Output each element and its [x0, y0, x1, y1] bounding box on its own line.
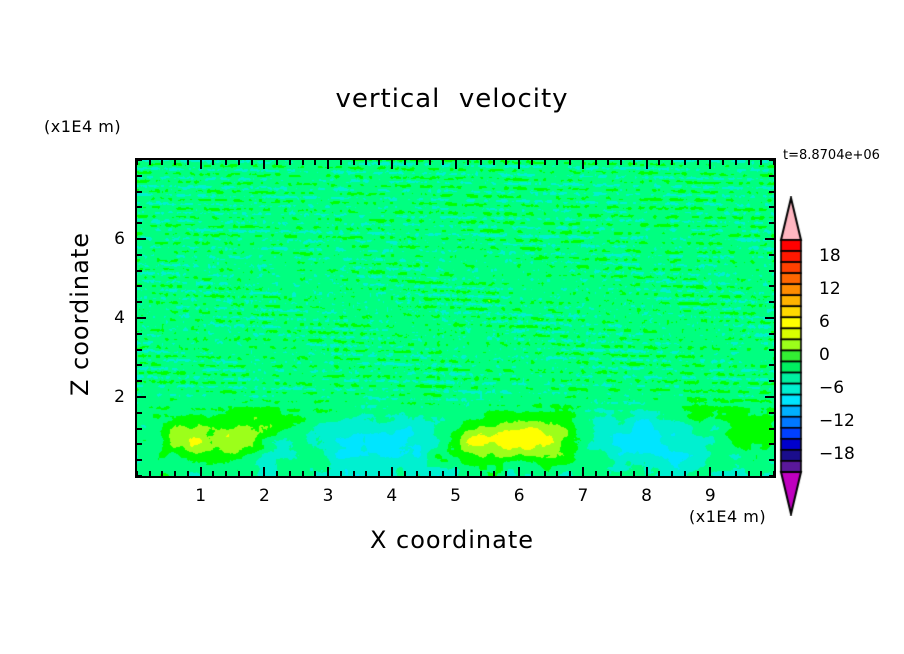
x-tick	[633, 471, 635, 476]
x-tick	[505, 471, 507, 476]
colorbar: 181260−6−12−18	[779, 196, 899, 516]
contour-field-canvas	[137, 160, 774, 476]
x-tick-top	[684, 160, 686, 165]
x-tick-top	[505, 160, 507, 165]
x-tick	[582, 467, 584, 476]
x-tick	[455, 467, 457, 476]
x-tick-top	[748, 160, 750, 165]
x-tick-top	[620, 160, 622, 165]
x-tick-top	[327, 160, 329, 169]
colorbar-tick-label: −18	[819, 446, 855, 463]
x-tick-top	[709, 160, 711, 169]
x-tick-top	[161, 160, 163, 165]
x-tick	[251, 471, 253, 476]
x-tick	[607, 471, 609, 476]
chart-title: vertical velocity	[0, 84, 904, 114]
y-axis-units-label: (x1E4 m)	[44, 117, 121, 136]
colorbar-tick-label: 18	[819, 248, 841, 265]
x-tick	[212, 471, 214, 476]
y-tick-right	[769, 349, 774, 351]
y-tick-right	[769, 428, 774, 430]
y-tick	[137, 443, 142, 445]
x-tick-top	[289, 160, 291, 165]
x-tick-top	[658, 160, 660, 165]
x-tick-top	[238, 160, 240, 165]
x-tick	[684, 471, 686, 476]
x-tick	[314, 471, 316, 476]
y-tick	[137, 206, 142, 208]
x-tick-top	[455, 160, 457, 169]
y-tick	[137, 428, 142, 430]
x-tick-label: 7	[568, 486, 598, 506]
x-tick-label: 6	[504, 486, 534, 506]
x-tick	[480, 471, 482, 476]
y-tick-right	[765, 238, 774, 240]
x-tick	[263, 467, 265, 476]
x-tick-top	[518, 160, 520, 169]
colorbar-tick-label: 0	[819, 347, 830, 364]
y-tick-right	[769, 475, 774, 477]
x-tick	[353, 471, 355, 476]
x-tick-top	[544, 160, 546, 165]
x-tick-top	[212, 160, 214, 165]
x-tick	[697, 471, 699, 476]
x-tick	[760, 471, 762, 476]
x-tick	[327, 467, 329, 476]
x-tick	[467, 471, 469, 476]
y-tick-right	[765, 396, 774, 398]
x-tick-top	[404, 160, 406, 165]
y-tick	[137, 238, 146, 240]
y-tick	[137, 254, 142, 256]
x-tick-top	[149, 160, 151, 165]
plot-area	[135, 158, 776, 478]
x-tick	[544, 471, 546, 476]
y-tick	[137, 301, 142, 303]
y-tick	[137, 159, 142, 161]
x-tick	[518, 467, 520, 476]
figure-root: vertical velocity (x1E4 m) t=8.8704e+06 …	[0, 0, 904, 654]
y-tick	[137, 175, 142, 177]
colorbar-tick-label: −12	[819, 413, 855, 430]
y-tick	[137, 333, 142, 335]
colorbar-tick-label: −6	[819, 380, 844, 397]
x-tick	[174, 471, 176, 476]
x-tick	[340, 471, 342, 476]
y-tick-right	[769, 333, 774, 335]
x-tick-top	[760, 160, 762, 165]
y-tick-label: 2	[95, 387, 125, 407]
x-tick	[671, 471, 673, 476]
x-tick	[289, 471, 291, 476]
x-tick-top	[302, 160, 304, 165]
x-tick-top	[582, 160, 584, 169]
y-tick-right	[769, 270, 774, 272]
y-tick-right	[765, 317, 774, 319]
y-tick-right	[769, 175, 774, 177]
x-tick	[620, 471, 622, 476]
x-tick	[149, 471, 151, 476]
x-tick	[429, 471, 431, 476]
y-tick-right	[769, 301, 774, 303]
x-tick-label: 3	[313, 486, 343, 506]
x-tick	[378, 471, 380, 476]
x-tick	[556, 471, 558, 476]
x-tick-label: 1	[186, 486, 216, 506]
x-tick-top	[442, 160, 444, 165]
x-tick	[276, 471, 278, 476]
x-tick-top	[314, 160, 316, 165]
y-tick-right	[769, 380, 774, 382]
x-tick-top	[187, 160, 189, 165]
x-tick-top	[391, 160, 393, 169]
x-tick	[187, 471, 189, 476]
colorbar-tick-label: 6	[819, 314, 830, 331]
x-tick-top	[595, 160, 597, 165]
y-tick	[137, 364, 142, 366]
x-tick-top	[365, 160, 367, 165]
x-tick	[365, 471, 367, 476]
x-tick-label: 4	[377, 486, 407, 506]
x-tick-top	[531, 160, 533, 165]
x-tick-label: 2	[249, 486, 279, 506]
x-tick	[709, 467, 711, 476]
x-tick-top	[467, 160, 469, 165]
y-tick	[137, 459, 142, 461]
x-tick-top	[263, 160, 265, 169]
y-tick-right	[769, 443, 774, 445]
y-tick	[137, 349, 142, 351]
x-tick-top	[633, 160, 635, 165]
y-tick-right	[769, 206, 774, 208]
x-tick	[569, 471, 571, 476]
x-tick-top	[671, 160, 673, 165]
x-tick	[225, 471, 227, 476]
x-tick-top	[493, 160, 495, 165]
x-tick-label: 9	[695, 486, 725, 506]
x-tick-top	[697, 160, 699, 165]
x-axis-title: X coordinate	[0, 526, 904, 554]
x-tick-top	[607, 160, 609, 165]
y-tick	[137, 285, 142, 287]
y-tick-right	[769, 285, 774, 287]
x-tick	[161, 471, 163, 476]
y-tick	[137, 412, 142, 414]
x-tick-top	[200, 160, 202, 169]
x-tick-top	[569, 160, 571, 165]
x-tick-label: 5	[441, 486, 471, 506]
x-tick	[646, 467, 648, 476]
x-tick	[748, 471, 750, 476]
x-tick-top	[556, 160, 558, 165]
y-tick	[137, 191, 142, 193]
time-annotation: t=8.8704e+06	[783, 148, 880, 163]
y-tick-right	[769, 364, 774, 366]
x-tick-top	[480, 160, 482, 165]
x-tick-top	[722, 160, 724, 165]
x-tick	[302, 471, 304, 476]
colorbar-tick-label: 12	[819, 281, 841, 298]
y-tick-right	[769, 191, 774, 193]
x-tick	[722, 471, 724, 476]
x-tick	[416, 471, 418, 476]
x-tick-top	[251, 160, 253, 165]
x-tick-top	[735, 160, 737, 165]
y-axis-title: Z coordinate	[66, 214, 94, 414]
y-tick-label: 4	[95, 308, 125, 328]
x-tick-top	[378, 160, 380, 165]
y-tick	[137, 222, 142, 224]
y-tick-right	[769, 159, 774, 161]
y-tick	[137, 270, 142, 272]
y-tick	[137, 396, 146, 398]
x-tick-top	[225, 160, 227, 165]
x-tick	[658, 471, 660, 476]
y-tick	[137, 380, 142, 382]
x-tick	[493, 471, 495, 476]
x-tick	[200, 467, 202, 476]
x-tick	[391, 467, 393, 476]
x-tick	[531, 471, 533, 476]
x-tick	[404, 471, 406, 476]
x-tick	[238, 471, 240, 476]
colorbar-canvas	[779, 196, 813, 516]
y-tick-right	[769, 222, 774, 224]
x-tick	[442, 471, 444, 476]
y-tick-right	[769, 254, 774, 256]
y-tick	[137, 475, 142, 477]
x-tick-top	[276, 160, 278, 165]
x-tick-top	[416, 160, 418, 165]
x-tick	[595, 471, 597, 476]
y-tick-right	[769, 412, 774, 414]
x-tick-top	[429, 160, 431, 165]
y-tick	[137, 317, 146, 319]
x-tick-top	[646, 160, 648, 169]
x-tick-top	[340, 160, 342, 165]
x-tick	[735, 471, 737, 476]
x-axis-units-label: (x1E4 m)	[689, 507, 766, 526]
x-tick-label: 8	[632, 486, 662, 506]
y-tick-right	[769, 459, 774, 461]
x-tick-top	[174, 160, 176, 165]
x-tick-top	[353, 160, 355, 165]
y-tick-label: 6	[95, 229, 125, 249]
